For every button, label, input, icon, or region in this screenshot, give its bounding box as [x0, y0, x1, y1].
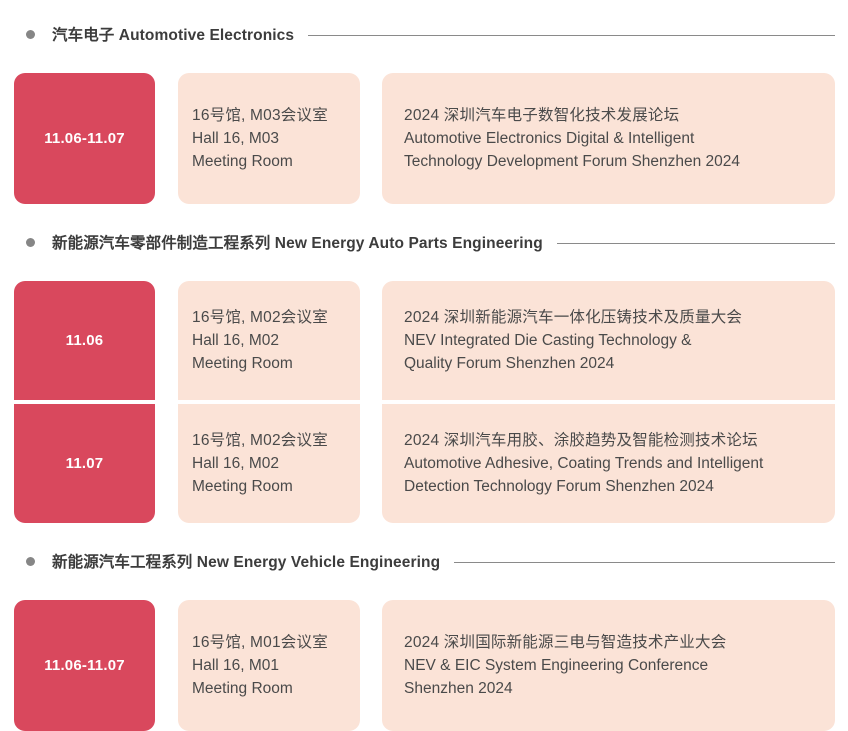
- venue-line-cn: 16号馆, M03会议室: [192, 104, 360, 127]
- date-column: 11.06-11.07: [14, 600, 155, 731]
- topic-column: 2024 深圳汽车电子数智化技术发展论坛 Automotive Electron…: [382, 73, 835, 204]
- bullet-icon: [26, 30, 35, 39]
- bullet-icon: [26, 557, 35, 566]
- topic-cell[interactable]: 2024 深圳汽车电子数智化技术发展论坛 Automotive Electron…: [382, 73, 835, 204]
- section-title: 汽车电子 Automotive Electronics: [52, 23, 294, 45]
- date-badge[interactable]: 11.06-11.07: [14, 73, 155, 204]
- topic-column: 2024 深圳国际新能源三电与智造技术产业大会 NEV & EIC System…: [382, 600, 835, 731]
- venue-line-en-1: Hall 16, M03: [192, 127, 360, 150]
- topic-line-en-2: Quality Forum Shenzhen 2024: [404, 352, 835, 375]
- date-badge[interactable]: 11.06: [14, 281, 155, 400]
- section-header: 新能源汽车零部件制造工程系列 New Energy Auto Parts Eng…: [0, 226, 848, 258]
- venue-line-en-2: Meeting Room: [192, 677, 360, 700]
- schedule-table: 11.06 11.07 16号馆, M02会议室 Hall 16, M02 Me…: [0, 281, 848, 523]
- topic-line-en-2: Shenzhen 2024: [404, 677, 835, 700]
- section-auto-parts-engineering: 新能源汽车零部件制造工程系列 New Energy Auto Parts Eng…: [0, 226, 848, 523]
- venue-line-en-1: Hall 16, M02: [192, 329, 360, 352]
- venue-line-cn: 16号馆, M02会议室: [192, 429, 360, 452]
- venue-column: 16号馆, M01会议室 Hall 16, M01 Meeting Room: [178, 600, 360, 731]
- venue-line-en-2: Meeting Room: [192, 475, 360, 498]
- header-gap: [0, 258, 848, 281]
- topic-line-en-1: NEV Integrated Die Casting Technology &: [404, 329, 835, 352]
- date-badge[interactable]: 11.06-11.07: [14, 600, 155, 731]
- section-header: 新能源汽车工程系列 New Energy Vehicle Engineering: [0, 545, 848, 577]
- topic-column: 2024 深圳新能源汽车一体化压铸技术及质量大会 NEV Integrated …: [382, 281, 835, 523]
- date-text: 11.06-11.07: [44, 657, 125, 674]
- bullet-icon: [26, 238, 35, 247]
- schedule-table: 11.06-11.07 16号馆, M01会议室 Hall 16, M01 Me…: [0, 600, 848, 731]
- header-gap: [0, 577, 848, 600]
- venue-line-en-2: Meeting Room: [192, 352, 360, 375]
- header-divider-rule: [454, 562, 835, 563]
- header-divider-rule: [557, 243, 835, 244]
- venue-column: 16号馆, M03会议室 Hall 16, M03 Meeting Room: [178, 73, 360, 204]
- topic-line-cn: 2024 深圳国际新能源三电与智造技术产业大会: [404, 631, 835, 654]
- section-header: 汽车电子 Automotive Electronics: [0, 18, 848, 50]
- date-column: 11.06-11.07: [14, 73, 155, 204]
- venue-column: 16号馆, M02会议室 Hall 16, M02 Meeting Room 1…: [178, 281, 360, 523]
- venue-line-en-2: Meeting Room: [192, 150, 360, 173]
- venue-cell[interactable]: 16号馆, M02会议室 Hall 16, M02 Meeting Room: [178, 404, 360, 523]
- venue-cell[interactable]: 16号馆, M01会议室 Hall 16, M01 Meeting Room: [178, 600, 360, 731]
- topic-line-cn: 2024 深圳汽车用胶、涂胶趋势及智能检测技术论坛: [404, 429, 835, 452]
- venue-line-cn: 16号馆, M01会议室: [192, 631, 360, 654]
- section-automotive-electronics: 汽车电子 Automotive Electronics 11.06-11.07 …: [0, 18, 848, 204]
- venue-cell[interactable]: 16号馆, M03会议室 Hall 16, M03 Meeting Room: [178, 73, 360, 204]
- topic-line-en-1: NEV & EIC System Engineering Conference: [404, 654, 835, 677]
- section-spacer-2: [0, 204, 848, 226]
- topic-line-cn: 2024 深圳汽车电子数智化技术发展论坛: [404, 104, 835, 127]
- top-spacer: [0, 0, 848, 18]
- section-title: 新能源汽车零部件制造工程系列 New Energy Auto Parts Eng…: [52, 231, 543, 253]
- topic-cell[interactable]: 2024 深圳汽车用胶、涂胶趋势及智能检测技术论坛 Automotive Adh…: [382, 404, 835, 523]
- venue-line-cn: 16号馆, M02会议室: [192, 306, 360, 329]
- schedule-page: 汽车电子 Automotive Electronics 11.06-11.07 …: [0, 0, 848, 709]
- date-badge[interactable]: 11.07: [14, 404, 155, 523]
- topic-line-en-2: Technology Development Forum Shenzhen 20…: [404, 150, 835, 173]
- venue-line-en-1: Hall 16, M02: [192, 452, 360, 475]
- topic-cell[interactable]: 2024 深圳国际新能源三电与智造技术产业大会 NEV & EIC System…: [382, 600, 835, 731]
- topic-line-en-2: Detection Technology Forum Shenzhen 2024: [404, 475, 835, 498]
- date-text: 11.06: [66, 332, 104, 349]
- topic-line-cn: 2024 深圳新能源汽车一体化压铸技术及质量大会: [404, 306, 835, 329]
- topic-line-en-1: Automotive Electronics Digital & Intelli…: [404, 127, 835, 150]
- section-title: 新能源汽车工程系列 New Energy Vehicle Engineering: [52, 550, 440, 572]
- section-nev-engineering: 新能源汽车工程系列 New Energy Vehicle Engineering…: [0, 545, 848, 731]
- topic-cell[interactable]: 2024 深圳新能源汽车一体化压铸技术及质量大会 NEV Integrated …: [382, 281, 835, 400]
- date-text: 11.06-11.07: [44, 130, 125, 147]
- venue-line-en-1: Hall 16, M01: [192, 654, 360, 677]
- header-gap: [0, 50, 848, 73]
- schedule-table: 11.06-11.07 16号馆, M03会议室 Hall 16, M03 Me…: [0, 73, 848, 204]
- header-divider-rule: [308, 35, 835, 36]
- venue-cell[interactable]: 16号馆, M02会议室 Hall 16, M02 Meeting Room: [178, 281, 360, 400]
- date-column: 11.06 11.07: [14, 281, 155, 523]
- topic-line-en-1: Automotive Adhesive, Coating Trends and …: [404, 452, 835, 475]
- date-text: 11.07: [66, 455, 104, 472]
- section-spacer-3: [0, 523, 848, 545]
